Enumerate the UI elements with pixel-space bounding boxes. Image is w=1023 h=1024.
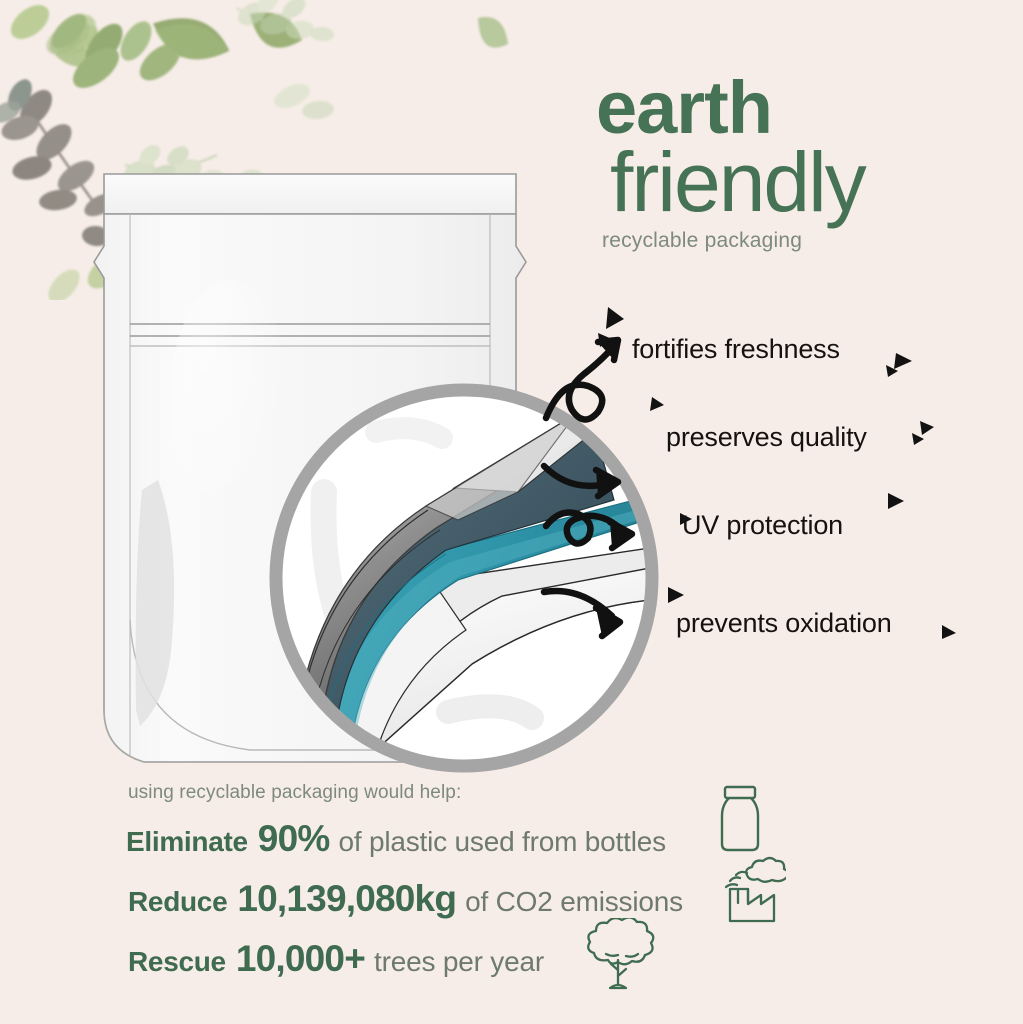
headline-subtitle: recyclable packaging [602, 229, 1016, 253]
statistic-verb: Reduce [128, 886, 227, 918]
jar-icon [712, 783, 768, 864]
headline-line-2: friendly [610, 142, 1016, 223]
statistics-intro: using recyclable packaging would help: [128, 782, 886, 804]
statistic-description: trees per year [374, 946, 544, 978]
feature-label-prevents-oxidation: prevents oxidation [676, 608, 892, 639]
feature-label-fortifies-freshness: fortifies freshness [632, 334, 840, 365]
feature-label-uv-protection: UV protection [682, 510, 843, 541]
statistic-row-rescue: Rescue 10,000+ trees per year [128, 938, 886, 980]
statistic-number: 10,139,080kg [237, 878, 456, 920]
factory-icon [718, 855, 786, 932]
headline-block: earth friendly recyclable packaging [596, 74, 1016, 253]
magnified-film-layers [258, 372, 670, 784]
statistic-row-eliminate: Eliminate 90% of plastic used from bottl… [126, 818, 886, 860]
statistic-number: 90% [258, 818, 330, 860]
tree-icon [578, 918, 664, 1003]
infographic-canvas: earth friendly recyclable packaging fort… [0, 0, 1023, 1024]
statistic-description: of CO2 emissions [465, 886, 683, 918]
statistic-verb: Eliminate [126, 826, 248, 858]
statistic-number: 10,000+ [236, 938, 365, 980]
statistic-verb: Rescue [128, 946, 226, 978]
headline-line-1: earth [596, 74, 1016, 142]
statistic-description: of plastic used from bottles [338, 826, 665, 858]
feature-label-preserves-quality: preserves quality [666, 422, 867, 453]
